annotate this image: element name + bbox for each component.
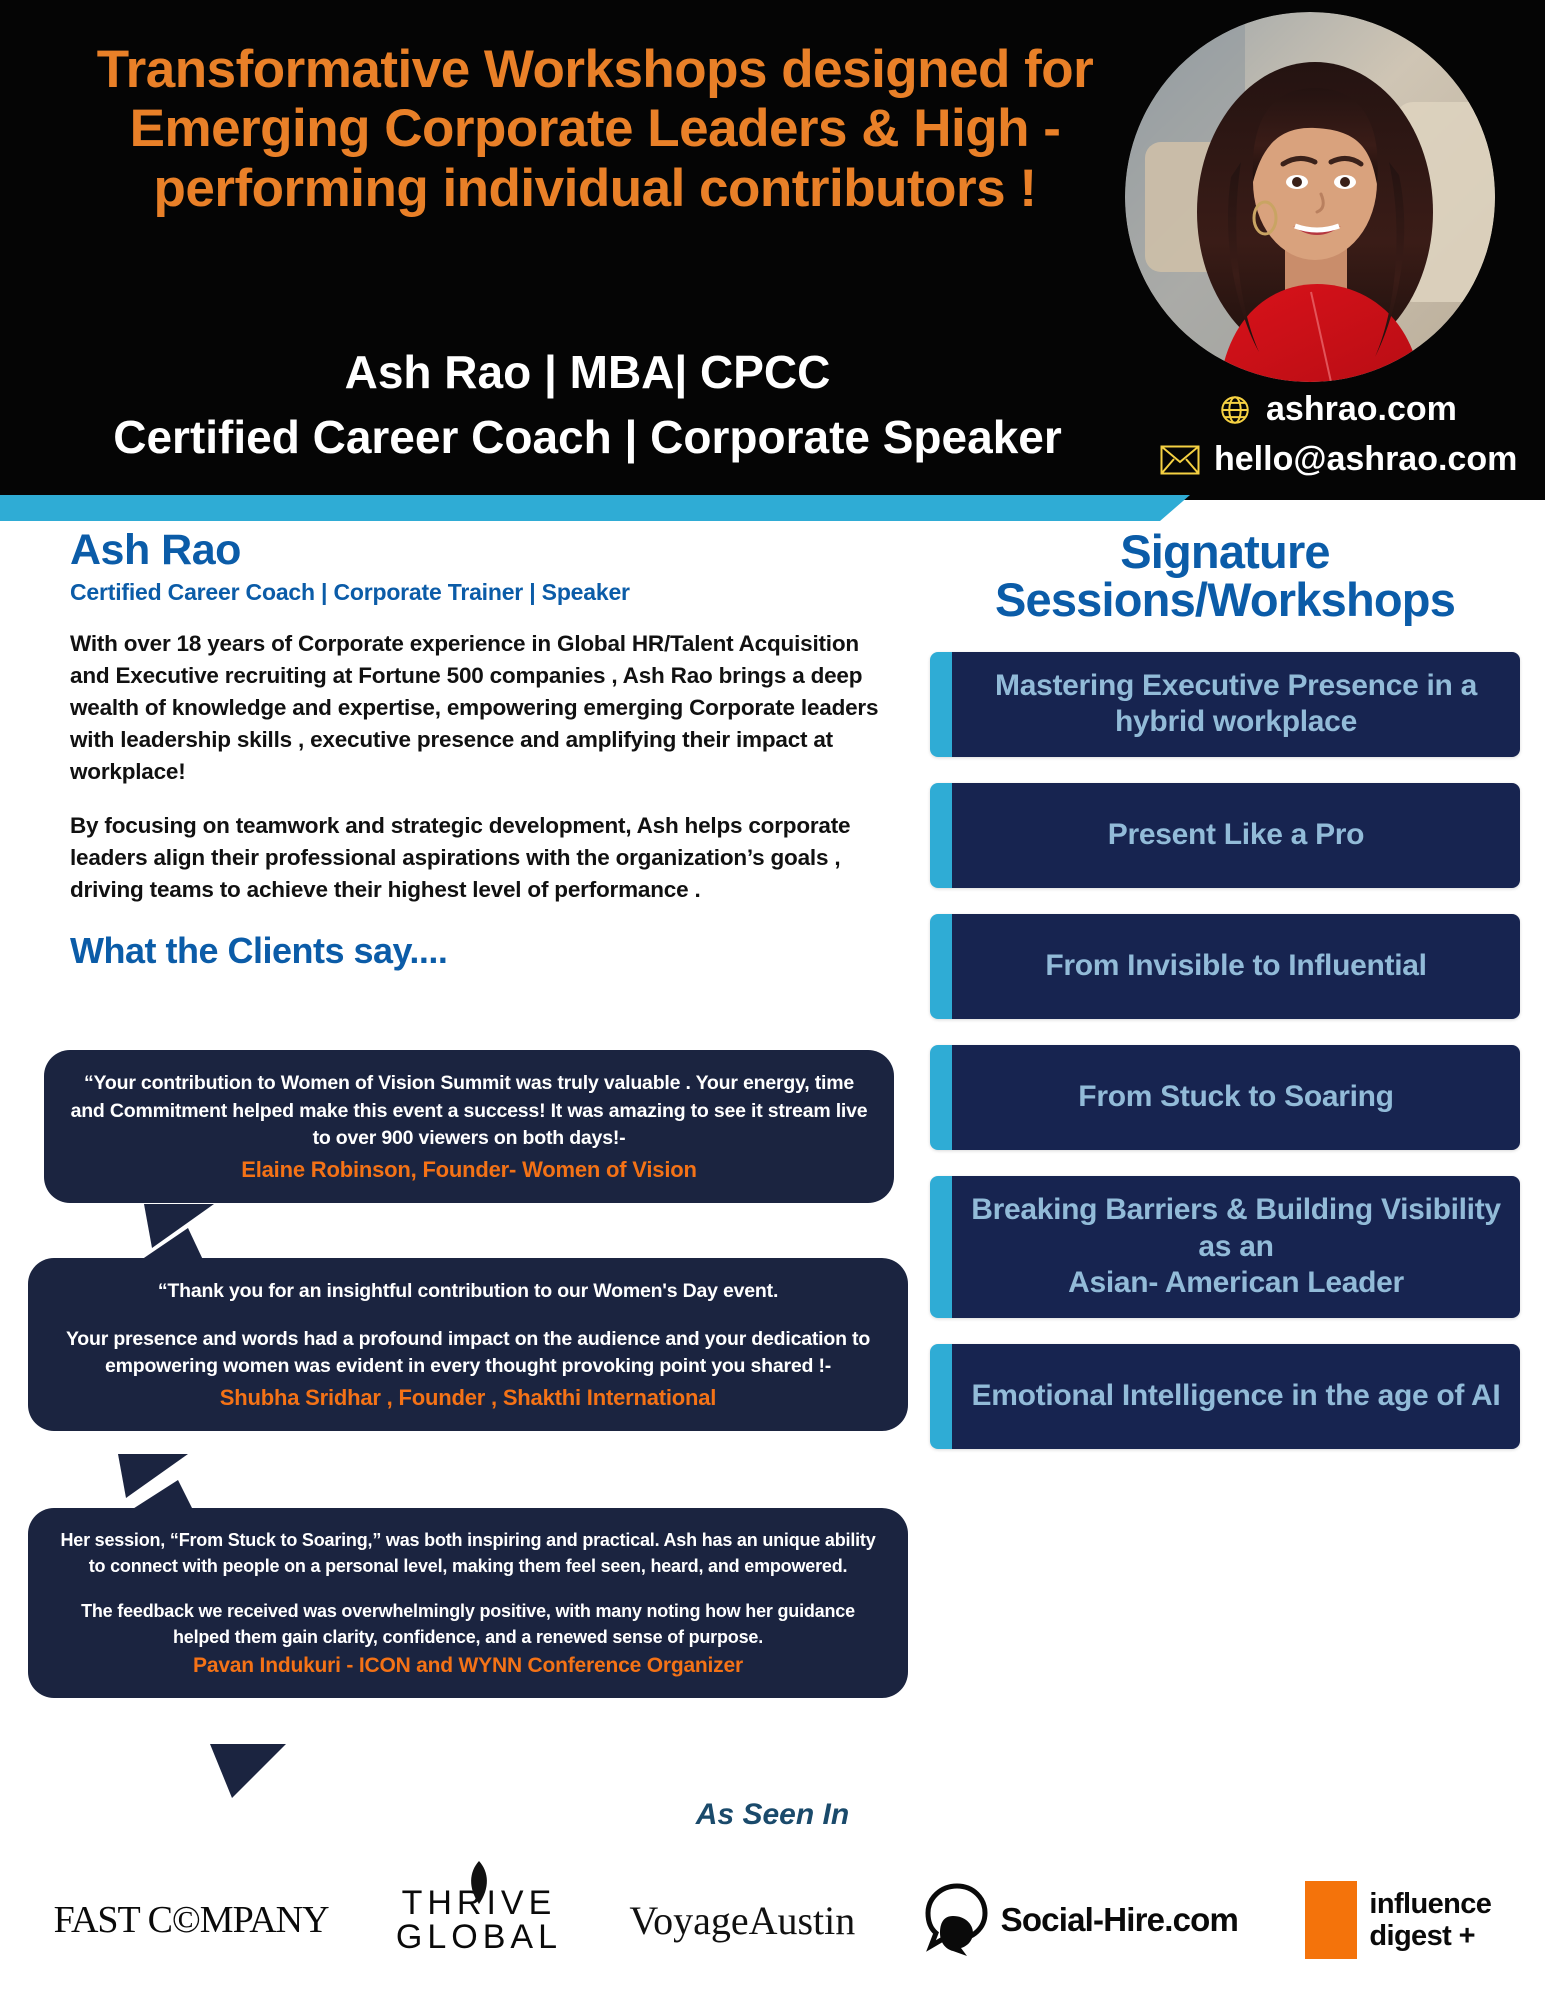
session-card-label: From Stuck to Soaring — [952, 1045, 1520, 1150]
session-card-1[interactable]: Mastering Executive Presence in a hybrid… — [930, 652, 1520, 757]
bubble-tail-bottom-icon — [210, 1744, 390, 1798]
press-logo-row: FAST C©MPANY THRIVE GLOBAL VoyageAustin … — [0, 1860, 1545, 1980]
session-card-label: From Invisible to Influential — [952, 914, 1520, 1019]
header-identity: Ash Rao | MBA| CPCC Certified Career Coa… — [20, 345, 1155, 467]
envelope-icon — [1160, 445, 1200, 475]
session-card-label: Emotional Intelligence in the age of AI — [952, 1344, 1520, 1449]
website-contact[interactable]: ashrao.com — [1218, 390, 1457, 429]
bubble-tail-top-icon — [120, 1480, 300, 1512]
social-hire-logo: Social-Hire.com — [923, 1882, 1238, 1958]
card-accent-bar — [930, 783, 952, 888]
session-card-label: Breaking Barriers & Building Visibility … — [952, 1176, 1520, 1318]
thrive-global-line2: GLOBAL — [396, 1920, 562, 1954]
header-name: Ash Rao | MBA| CPCC — [20, 345, 1155, 399]
session-card-2[interactable]: Present Like a Pro — [930, 783, 1520, 888]
session-card-3[interactable]: From Invisible to Influential — [930, 914, 1520, 1019]
testimonial-quote-2: The feedback we received was overwhelmin… — [54, 1599, 882, 1650]
influence-digest-line2: digest + — [1369, 1920, 1491, 1952]
clients-heading: What the Clients say.... — [70, 930, 890, 972]
email-contact[interactable]: hello@ashrao.com — [1160, 440, 1517, 479]
header-banner: Transformative Workshops designed for Em… — [0, 0, 1545, 500]
testimonial-quote-2: Your presence and words had a profound i… — [54, 1326, 882, 1381]
portrait-photo — [1125, 12, 1495, 382]
bio-text: With over 18 years of Corporate experien… — [70, 628, 890, 906]
session-card-4[interactable]: From Stuck to Soaring — [930, 1045, 1520, 1150]
testimonial-3: Her session, “From Stuck to Soaring,” wa… — [28, 1508, 908, 1698]
sessions-heading-line1: Signature — [930, 528, 1520, 576]
card-accent-bar — [930, 652, 952, 757]
testimonial-2: “Thank you for an insightful contributio… — [28, 1258, 908, 1431]
testimonial-1: “Your contribution to Women of Vision Su… — [44, 1050, 894, 1203]
testimonial-bubble: Her session, “From Stuck to Soaring,” wa… — [28, 1508, 908, 1698]
email-text: hello@ashrao.com — [1214, 440, 1517, 479]
testimonial-quote: “Your contribution to Women of Vision Su… — [70, 1070, 868, 1153]
bio-paragraph-2: By focusing on teamwork and strategic de… — [70, 810, 890, 906]
influence-digest-mark — [1305, 1881, 1357, 1959]
globe-icon — [1218, 393, 1252, 427]
thrive-global-logo: THRIVE GLOBAL — [396, 1886, 562, 1954]
card-accent-bar — [930, 1176, 952, 1318]
speech-bubble-icon — [923, 1882, 991, 1958]
testimonial-author: Elaine Robinson, Founder- Women of Visio… — [70, 1157, 868, 1183]
voyage-austin-logo: VoyageAustin — [629, 1897, 855, 1944]
website-text: ashrao.com — [1266, 390, 1457, 429]
fast-company-logo: FAST C©MPANY — [54, 1898, 329, 1942]
card-accent-bar — [930, 1344, 952, 1449]
subtitle-tagline: Certified Career Coach | Corporate Train… — [70, 579, 890, 606]
session-card-6[interactable]: Emotional Intelligence in the age of AI — [930, 1344, 1520, 1449]
as-seen-in-label: As Seen In — [0, 1798, 1545, 1832]
session-card-5[interactable]: Breaking Barriers & Building Visibility … — [930, 1176, 1520, 1318]
social-hire-logo-text: Social-Hire.com — [1001, 1901, 1238, 1939]
bubble-spacer — [54, 1579, 882, 1599]
influence-digest-line1: influence — [1369, 1888, 1491, 1920]
sessions-heading-line2: Sessions/Workshops — [930, 576, 1520, 624]
session-card-label: Present Like a Pro — [952, 783, 1520, 888]
testimonial-quote: Her session, “From Stuck to Soaring,” wa… — [54, 1528, 882, 1579]
leaf-icon — [464, 1860, 494, 1906]
testimonial-author: Shubha Sridhar , Founder , Shakthi Inter… — [54, 1385, 882, 1411]
influence-digest-logo: influence digest + — [1305, 1881, 1491, 1959]
header-role: Certified Career Coach | Corporate Speak… — [20, 409, 1155, 467]
testimonial-quote: “Thank you for an insightful contributio… — [54, 1278, 882, 1306]
header-headline: Transformative Workshops designed for Em… — [40, 40, 1150, 218]
testimonial-bubble: “Thank you for an insightful contributio… — [28, 1258, 908, 1431]
session-card-label: Mastering Executive Presence in a hybrid… — [952, 652, 1520, 757]
bio-column: Ash Rao Certified Career Coach | Corpora… — [70, 528, 890, 972]
voyage-austin-logo-text: VoyageAustin — [629, 1897, 855, 1944]
card-accent-bar — [930, 914, 952, 1019]
card-accent-bar — [930, 1045, 952, 1150]
sessions-column: Signature Sessions/Workshops Mastering E… — [930, 528, 1520, 1475]
bubble-spacer — [54, 1306, 882, 1326]
testimonial-author: Pavan Indukuri - ICON and WYNN Conferenc… — [54, 1654, 882, 1678]
session-card-list: Mastering Executive Presence in a hybrid… — [930, 652, 1520, 1449]
influence-digest-text: influence digest + — [1369, 1888, 1491, 1953]
fast-company-logo-text: FAST C©MPANY — [54, 1898, 329, 1942]
page-title: Ash Rao — [70, 528, 890, 573]
bio-paragraph-1: With over 18 years of Corporate experien… — [70, 628, 890, 788]
testimonial-bubble: “Your contribution to Women of Vision Su… — [44, 1050, 894, 1203]
sessions-heading: Signature Sessions/Workshops — [930, 528, 1520, 624]
bubble-tail-top-icon — [128, 1228, 308, 1262]
